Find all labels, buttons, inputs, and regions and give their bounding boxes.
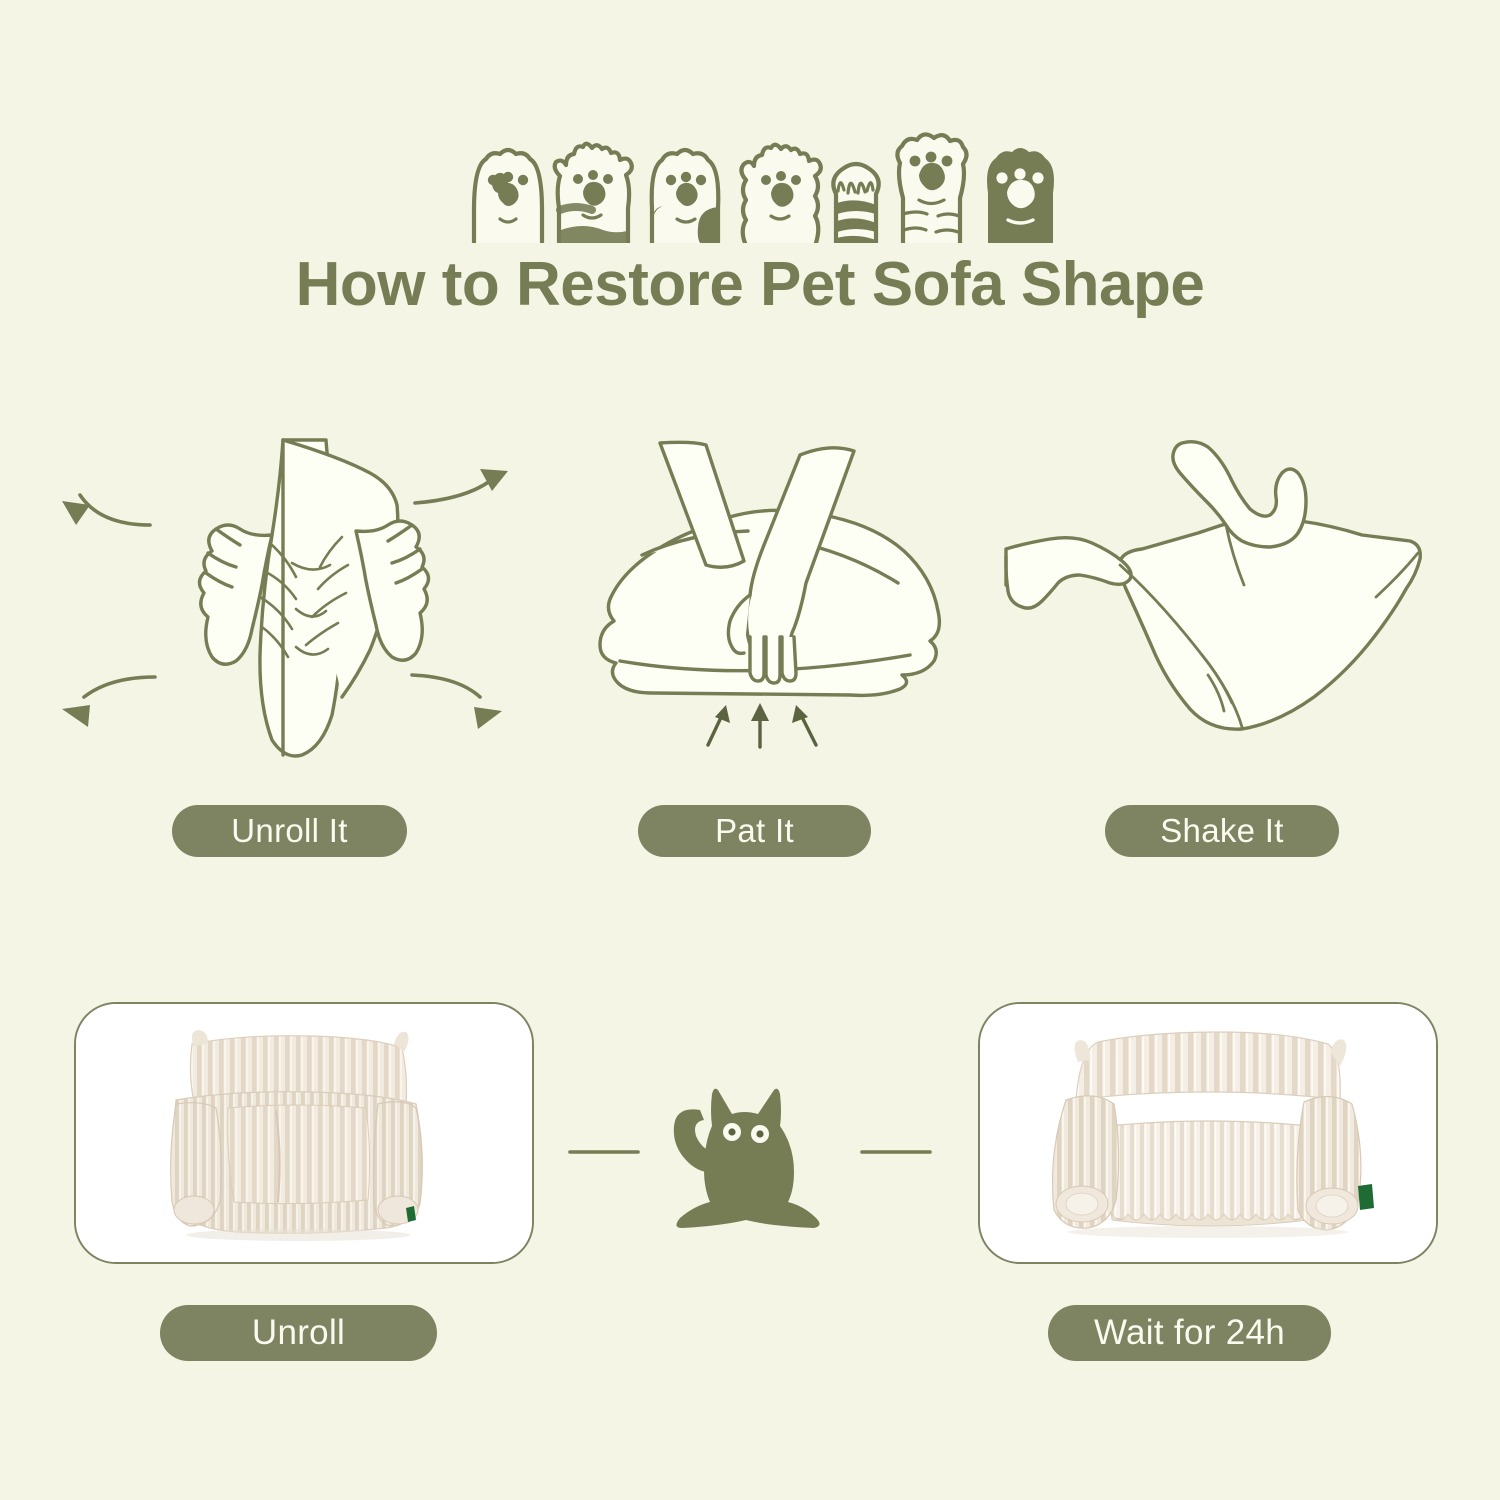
shake-illustration-icon — [970, 425, 1470, 775]
after-label-pill[interactable]: Wait for 24h — [1048, 1305, 1331, 1361]
paw-5 — [833, 164, 878, 243]
arrow-top-left — [62, 495, 150, 525]
steps-row — [0, 425, 1500, 865]
arrow-up-center — [751, 703, 769, 747]
brand-tag-icon — [1358, 1184, 1374, 1210]
pat-illustration-icon — [500, 425, 1000, 775]
page-title: How to Restore Pet Sofa Shape — [0, 252, 1500, 317]
paw-1 — [474, 150, 542, 243]
step-pat-it — [500, 425, 1000, 865]
comparison-divider — [560, 1060, 940, 1240]
compressed-sofa-photo — [76, 1004, 532, 1262]
after-photo-card — [978, 1002, 1438, 1264]
paw-3 — [652, 150, 719, 243]
paw-4 — [741, 145, 820, 243]
cat-silhouette-icon — [674, 1089, 820, 1228]
cat-paws-row — [0, 58, 1500, 243]
arrow-bottom-left — [62, 677, 155, 727]
arrow-bottom-right — [412, 675, 502, 729]
step-label-shake-it[interactable]: Shake It — [1105, 805, 1339, 857]
step-label-unroll-it[interactable]: Unroll It — [172, 805, 407, 857]
before-label-pill[interactable]: Unroll — [160, 1305, 437, 1361]
before-photo-card — [74, 1002, 534, 1264]
unroll-illustration-icon — [40, 425, 540, 775]
restored-sofa-photo — [980, 1004, 1436, 1262]
step-label-pat-it[interactable]: Pat It — [638, 805, 871, 857]
paw-6 — [897, 134, 966, 243]
step-unroll-it — [40, 425, 540, 865]
arrow-up-left — [708, 705, 730, 745]
infographic-root: How to Restore Pet Sofa Shape — [0, 0, 1500, 1500]
arrow-top-right — [415, 469, 508, 503]
paw-2 — [555, 144, 632, 243]
paw-7 — [987, 148, 1054, 243]
arrow-up-right — [792, 705, 816, 745]
step-shake-it — [970, 425, 1470, 865]
